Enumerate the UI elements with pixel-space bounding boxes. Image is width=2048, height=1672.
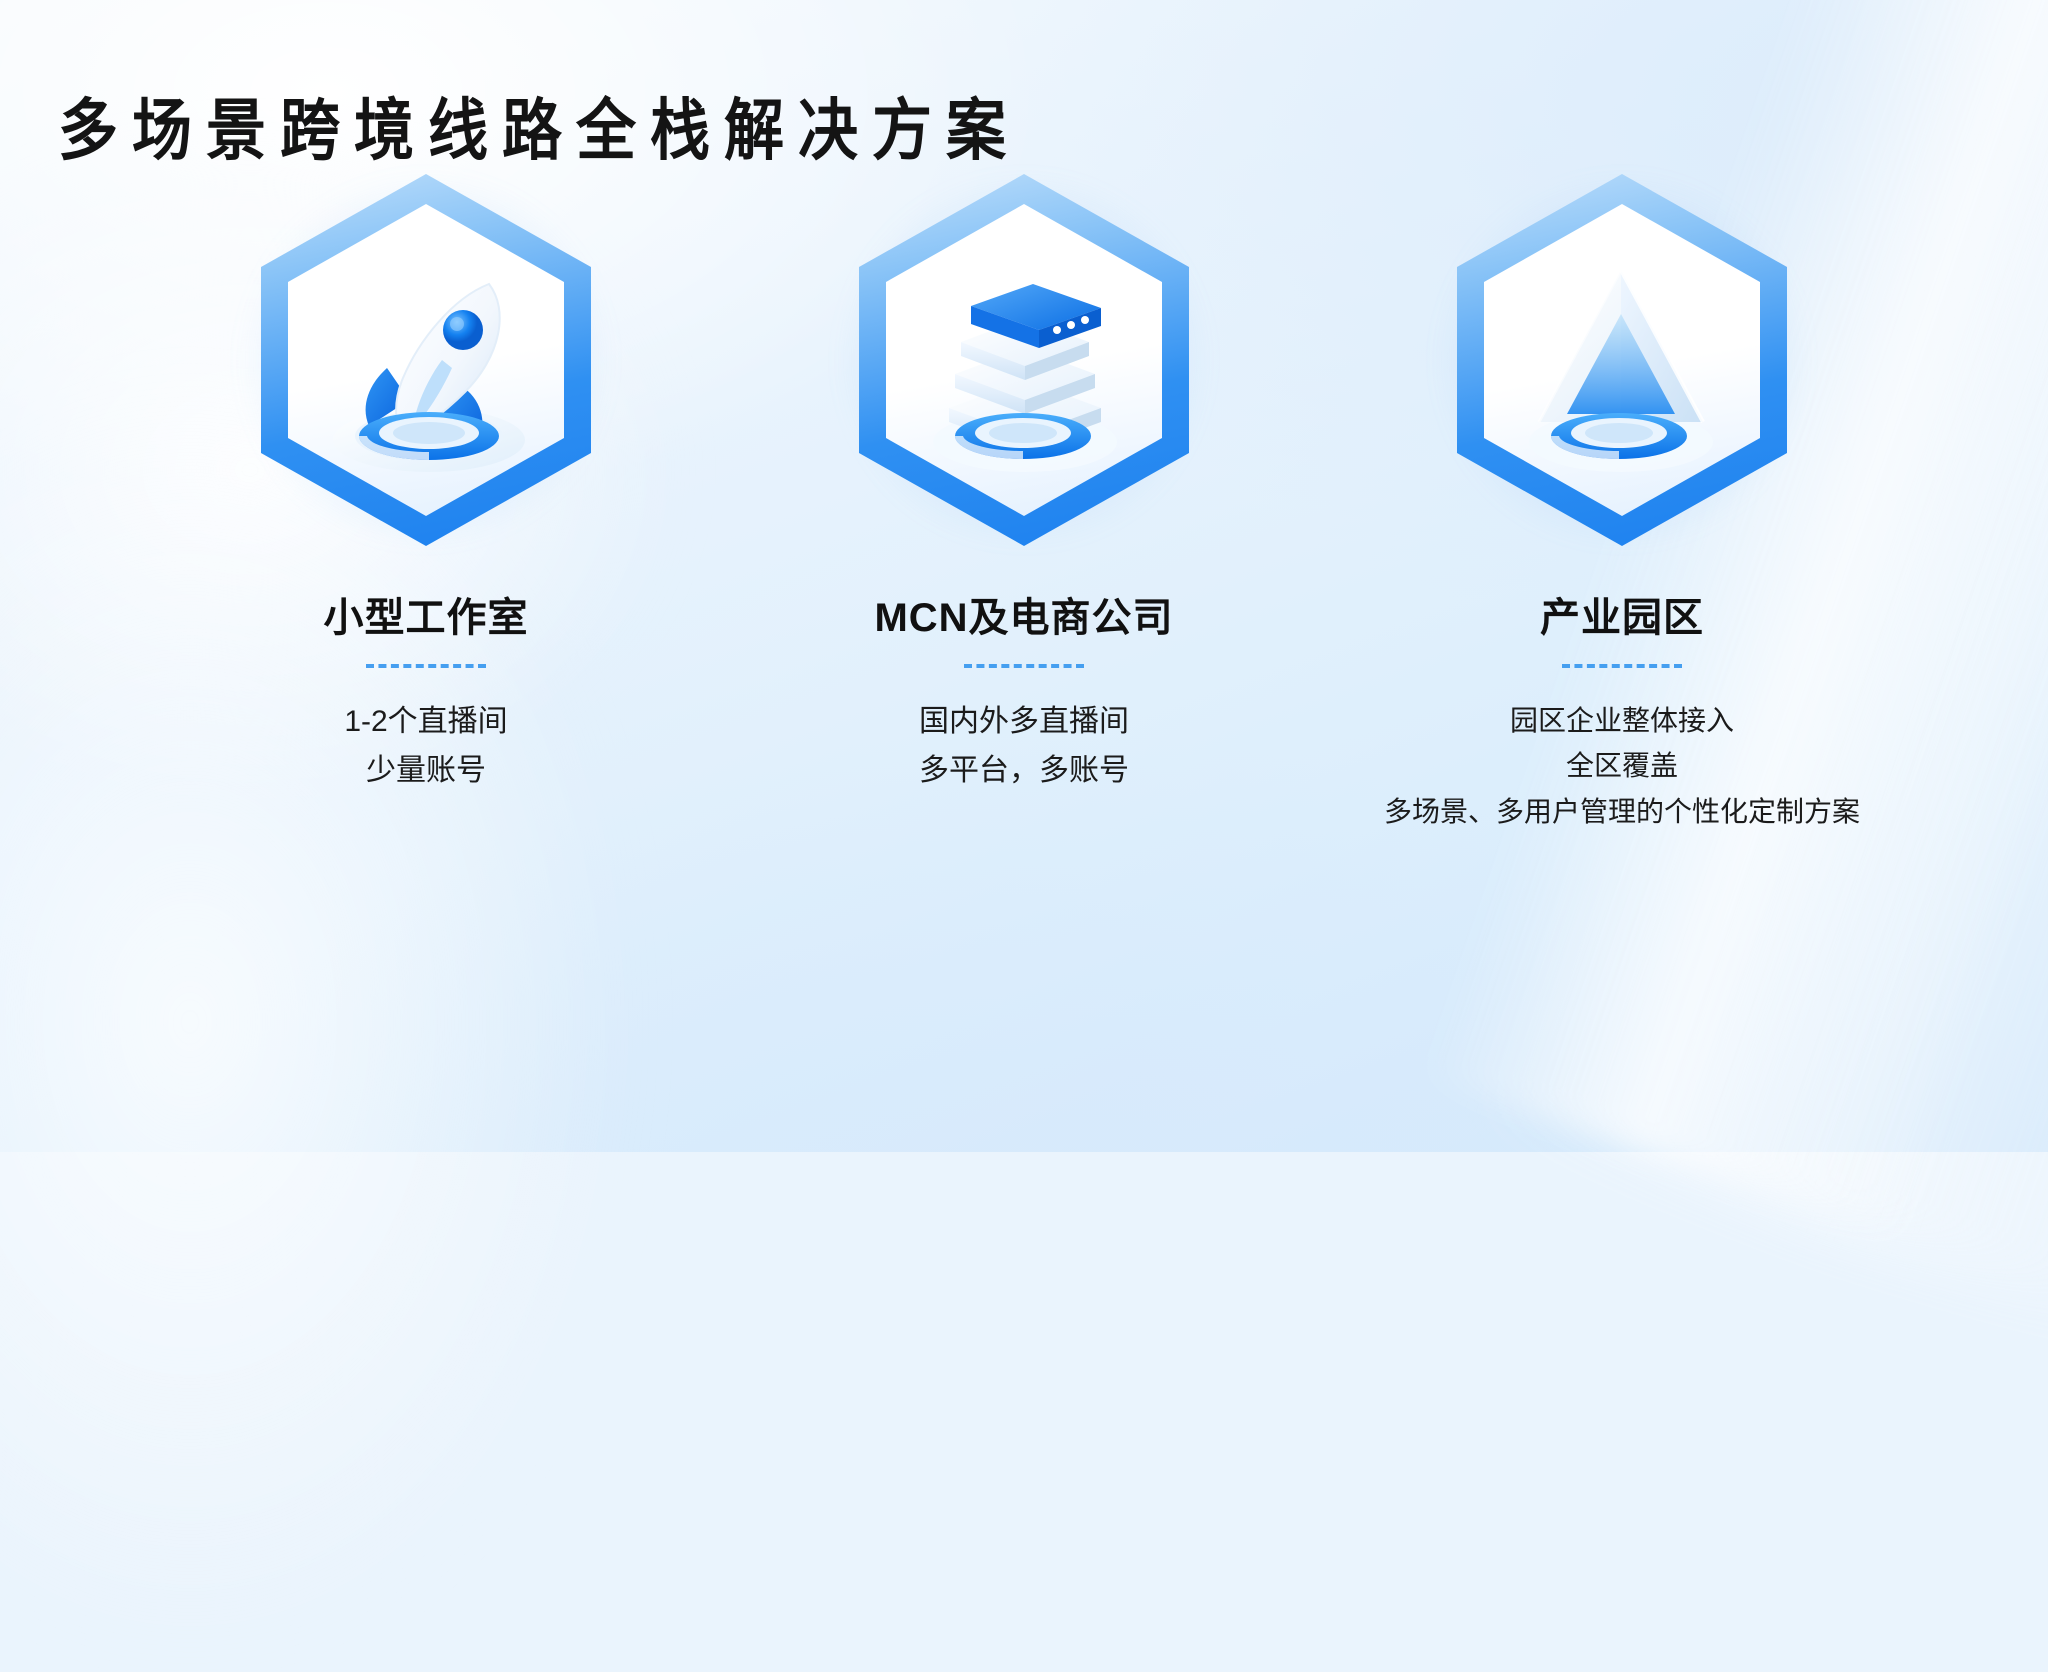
card-description: 园区企业整体接入 全区覆盖 多场景、多用户管理的个性化定制方案 <box>1384 698 1860 834</box>
solution-card-small-studio[interactable]: 小型工作室 1-2个直播间 少量账号 <box>186 160 666 795</box>
hexagon-badge <box>250 160 602 560</box>
page-title: 多场景跨境线路全栈解决方案 <box>58 92 1020 169</box>
rocket-icon <box>288 204 564 516</box>
server-stack-icon <box>886 204 1162 516</box>
card-line: 国内外多直播间 <box>919 698 1129 747</box>
solution-card-mcn-ecommerce[interactable]: MCN及电商公司 国内外多直播间 多平台，多账号 <box>784 160 1264 795</box>
card-divider <box>964 664 1084 668</box>
card-description: 1-2个直播间 少量账号 <box>344 698 507 795</box>
card-divider <box>1562 664 1682 668</box>
card-line: 多平台，多账号 <box>919 747 1129 796</box>
solution-card-industrial-park[interactable]: 产业园区 园区企业整体接入 全区覆盖 多场景、多用户管理的个性化定制方案 <box>1382 160 1862 834</box>
card-line: 多场景、多用户管理的个性化定制方案 <box>1384 789 1860 834</box>
hexagon-badge <box>848 160 1200 560</box>
solution-cards-row: 小型工作室 1-2个直播间 少量账号 <box>0 160 2048 834</box>
card-line: 1-2个直播间 <box>344 698 507 747</box>
hexagon-badge <box>1446 160 1798 560</box>
card-divider <box>366 664 486 668</box>
card-line: 少量账号 <box>344 747 507 796</box>
card-title: MCN及电商公司 <box>874 594 1173 642</box>
card-title: 小型工作室 <box>324 594 529 642</box>
card-description: 国内外多直播间 多平台，多账号 <box>919 698 1129 795</box>
card-title: 产业园区 <box>1540 594 1704 642</box>
pyramid-icon <box>1484 204 1760 516</box>
card-line: 全区覆盖 <box>1384 743 1860 788</box>
card-line: 园区企业整体接入 <box>1384 698 1860 743</box>
